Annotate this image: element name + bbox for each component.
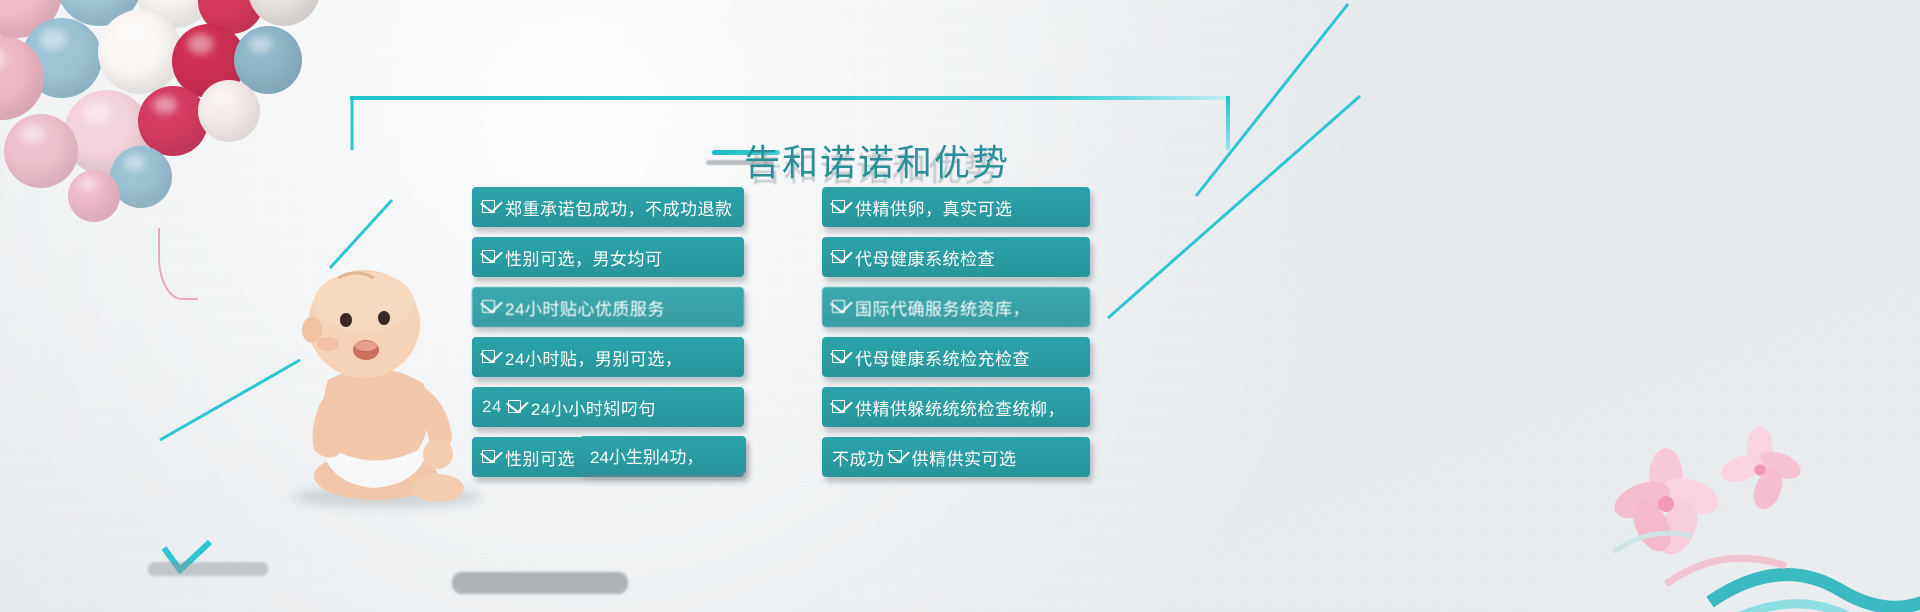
feature-pill[interactable]: 24 24小小时矧叼句 <box>472 387 744 427</box>
feature-pill[interactable]: 不成功 供精供实可选 <box>822 437 1090 477</box>
feature-label: 代母健康系统检充检查 <box>855 345 1030 370</box>
baby-illustration <box>268 262 478 512</box>
page-title: 告和诺诺和优势 <box>744 134 1010 186</box>
feature-label: 郑重承诺包成功，不成功退款 <box>505 195 733 220</box>
feature-label: 供精供实可选 <box>912 445 1017 470</box>
frame-top-line <box>350 96 1230 100</box>
checkbox-checked-icon <box>832 299 848 315</box>
feature-label: 代母健康系统检查 <box>855 245 995 270</box>
balloon <box>198 80 260 142</box>
feature-pill[interactable]: 代母健康系统检充检查 <box>822 337 1090 377</box>
feature-label: 供精供躲统统统检查统柳， <box>855 395 1065 420</box>
feature-pill[interactable]: 国际代确服务统资库， <box>822 287 1090 327</box>
feature-pill[interactable]: 代母健康系统检查 <box>822 237 1090 277</box>
checkbox-checked-icon <box>832 349 848 365</box>
checkbox-checked-icon <box>832 249 848 265</box>
checkbox-checked-icon <box>482 199 498 215</box>
artifact-prefix: 24 <box>482 397 502 417</box>
artifact-overlay-label: 24小生别4功， <box>590 443 703 468</box>
balloon <box>68 170 120 222</box>
feature-label: 24小时贴心优质服务 <box>505 295 665 320</box>
checkbox-checked-icon <box>832 399 848 415</box>
feature-pill[interactable]: 24小时贴心优质服务 <box>472 287 744 327</box>
feature-pill[interactable]: 供精供躲统统统检查统柳， <box>822 387 1090 427</box>
feature-pill[interactable]: 24小时贴，男别可选， <box>472 337 744 377</box>
checkbox-checked-icon <box>482 349 498 365</box>
stray-check-icon <box>160 540 216 580</box>
feature-label: 性别可选 <box>505 445 575 470</box>
feature-label: 国际代确服务统资库， <box>855 295 1030 320</box>
title-block: 告和诺诺和优势 告和诺诺和优势 <box>640 128 1280 184</box>
artifact-prefix: 不成功 <box>832 445 885 470</box>
checkbox-checked-icon <box>832 199 848 215</box>
feature-label: 性别可选，男女均可 <box>505 245 663 270</box>
feature-pill[interactable]: 供精供卵，真实可选 <box>822 187 1090 227</box>
checkbox-checked-icon <box>482 299 498 315</box>
feature-label: 24小小时矧叼句 <box>531 395 656 420</box>
balloon <box>4 114 78 188</box>
balloon <box>98 10 182 94</box>
feature-label: 供精供卵，真实可选 <box>855 195 1013 220</box>
balloon <box>248 0 320 26</box>
artifact-overlay-pill: 24小生别4功， <box>580 436 746 474</box>
feature-column-right: 供精供卵，真实可选 代母健康系统检查 国际代确服务统资库， 代母健康系统检充检查 <box>822 187 1090 487</box>
checkbox-checked-icon <box>482 449 498 465</box>
banner-canvas: 告和诺诺和优势 告和诺诺和优势 郑重承诺包成功，不成功退款 性别可选，男女均可 … <box>0 0 1920 612</box>
checkbox-checked-icon <box>889 449 905 465</box>
balloon <box>138 86 208 156</box>
floral-ribbon-decoration <box>1570 412 1920 612</box>
feature-label: 24小时贴，男别可选， <box>505 345 682 370</box>
feature-pill[interactable]: 郑重承诺包成功，不成功退款 <box>472 187 744 227</box>
feature-pill[interactable]: 性别可选，男女均可 <box>472 237 744 277</box>
checkbox-checked-icon <box>482 249 498 265</box>
checkbox-checked-icon <box>508 399 524 415</box>
